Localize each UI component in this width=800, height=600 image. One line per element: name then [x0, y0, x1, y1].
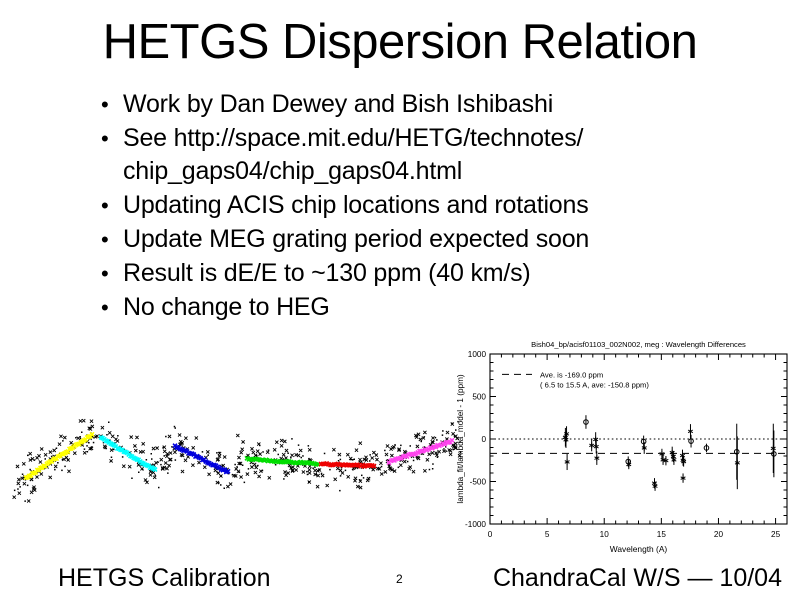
y-tick-label: 500: [472, 393, 486, 402]
y-tick-label: -500: [470, 478, 487, 487]
wavelength-differences-plot: Bish04_bp/acisf01103_002N002, meg : Wave…: [452, 336, 800, 561]
x-tick-label: 0: [488, 530, 493, 539]
bullet-text-4: Update MEG grating period expected soon: [123, 225, 589, 253]
y-tick-label: -1000: [465, 520, 486, 529]
footer-page-number: 2: [396, 572, 403, 586]
segment-blue: [173, 444, 230, 474]
data-point-asterisk: [642, 445, 647, 450]
bullet-dot-icon: •: [98, 291, 123, 324]
bullet-text-6: No change to HEG: [123, 293, 330, 321]
y-tick-label: 1000: [468, 350, 487, 359]
segment-cyan: [99, 436, 157, 472]
bullet-dot-icon: •: [98, 88, 123, 121]
data-point-asterisk: [589, 443, 594, 448]
segment-yellow: [24, 432, 94, 479]
chart-title: Bish04_bp/acisf01103_002N002, meg : Wave…: [531, 340, 746, 349]
bullet-dot-icon: •: [98, 223, 123, 256]
list-item: • Result is dE/E to ~130 ppm (40 km/s): [98, 257, 718, 290]
bullet-text-5: Result is dE/E to ~130 ppm (40 km/s): [123, 259, 531, 287]
x-tick-label: 10: [600, 530, 610, 539]
bullet-text-2-cont: chip_gaps04/chip_gaps04.html: [123, 155, 583, 188]
data-point-asterisk: [681, 475, 686, 480]
y-axis-label: lambda_fit/lambda_model - 1 (ppm): [456, 374, 465, 504]
bullet-text-2: See http://space.mit.edu/HETG/technotes/: [123, 124, 583, 152]
footer-left-label: HETGS Calibration: [58, 563, 271, 593]
chart-annotation: Ave. is -169.0 ppm: [540, 370, 603, 379]
data-point-asterisk: [594, 444, 599, 449]
list-item: • No change to HEG: [98, 291, 718, 324]
bullet-dot-icon: •: [98, 257, 123, 290]
data-point-asterisk: [595, 455, 600, 460]
x-tick-label: 5: [545, 530, 550, 539]
x-axis-label: Wavelength (A): [610, 544, 668, 554]
data-point-asterisk: [660, 451, 665, 456]
bullet-dot-icon: •: [98, 122, 123, 155]
x-tick-label: 20: [714, 530, 724, 539]
scatter-figure-canvas: [0, 378, 462, 538]
y-tick-label: 0: [481, 435, 486, 444]
bullet-list: • Work by Dan Dewey and Bish Ishibashi •…: [98, 88, 718, 325]
list-item: • See http://space.mit.edu/HETG/technote…: [98, 122, 718, 188]
bullet-dot-icon: •: [98, 189, 123, 222]
data-point-asterisk: [688, 429, 693, 434]
chip-gap-residual-scatter: [0, 378, 462, 538]
list-item: • Updating ACIS chip locations and rotat…: [98, 189, 718, 222]
list-item: • Work by Dan Dewey and Bish Ishibashi: [98, 88, 718, 121]
list-item: • Update MEG grating period expected soo…: [98, 223, 718, 256]
x-tick-label: 25: [771, 530, 781, 539]
data-point-asterisk: [735, 460, 740, 465]
footer-right-label: ChandraCal W/S — 10/04: [493, 563, 782, 593]
chart-annotation: ( 6.5 to 15.5 A, ave: -150.8 ppm): [540, 380, 649, 389]
page-title: HETGS Dispersion Relation: [0, 14, 800, 70]
bullet-text-3: Updating ACIS chip locations and rotatio…: [123, 191, 589, 219]
x-tick-label: 15: [657, 530, 667, 539]
segment-red: [319, 462, 376, 469]
data-point-asterisk: [593, 437, 598, 442]
data-point-asterisk: [565, 459, 570, 464]
bullet-text-1: Work by Dan Dewey and Bish Ishibashi: [123, 90, 553, 118]
data-point-asterisk: [771, 446, 776, 451]
ppm-plot-canvas: Bish04_bp/acisf01103_002N002, meg : Wave…: [452, 336, 800, 561]
